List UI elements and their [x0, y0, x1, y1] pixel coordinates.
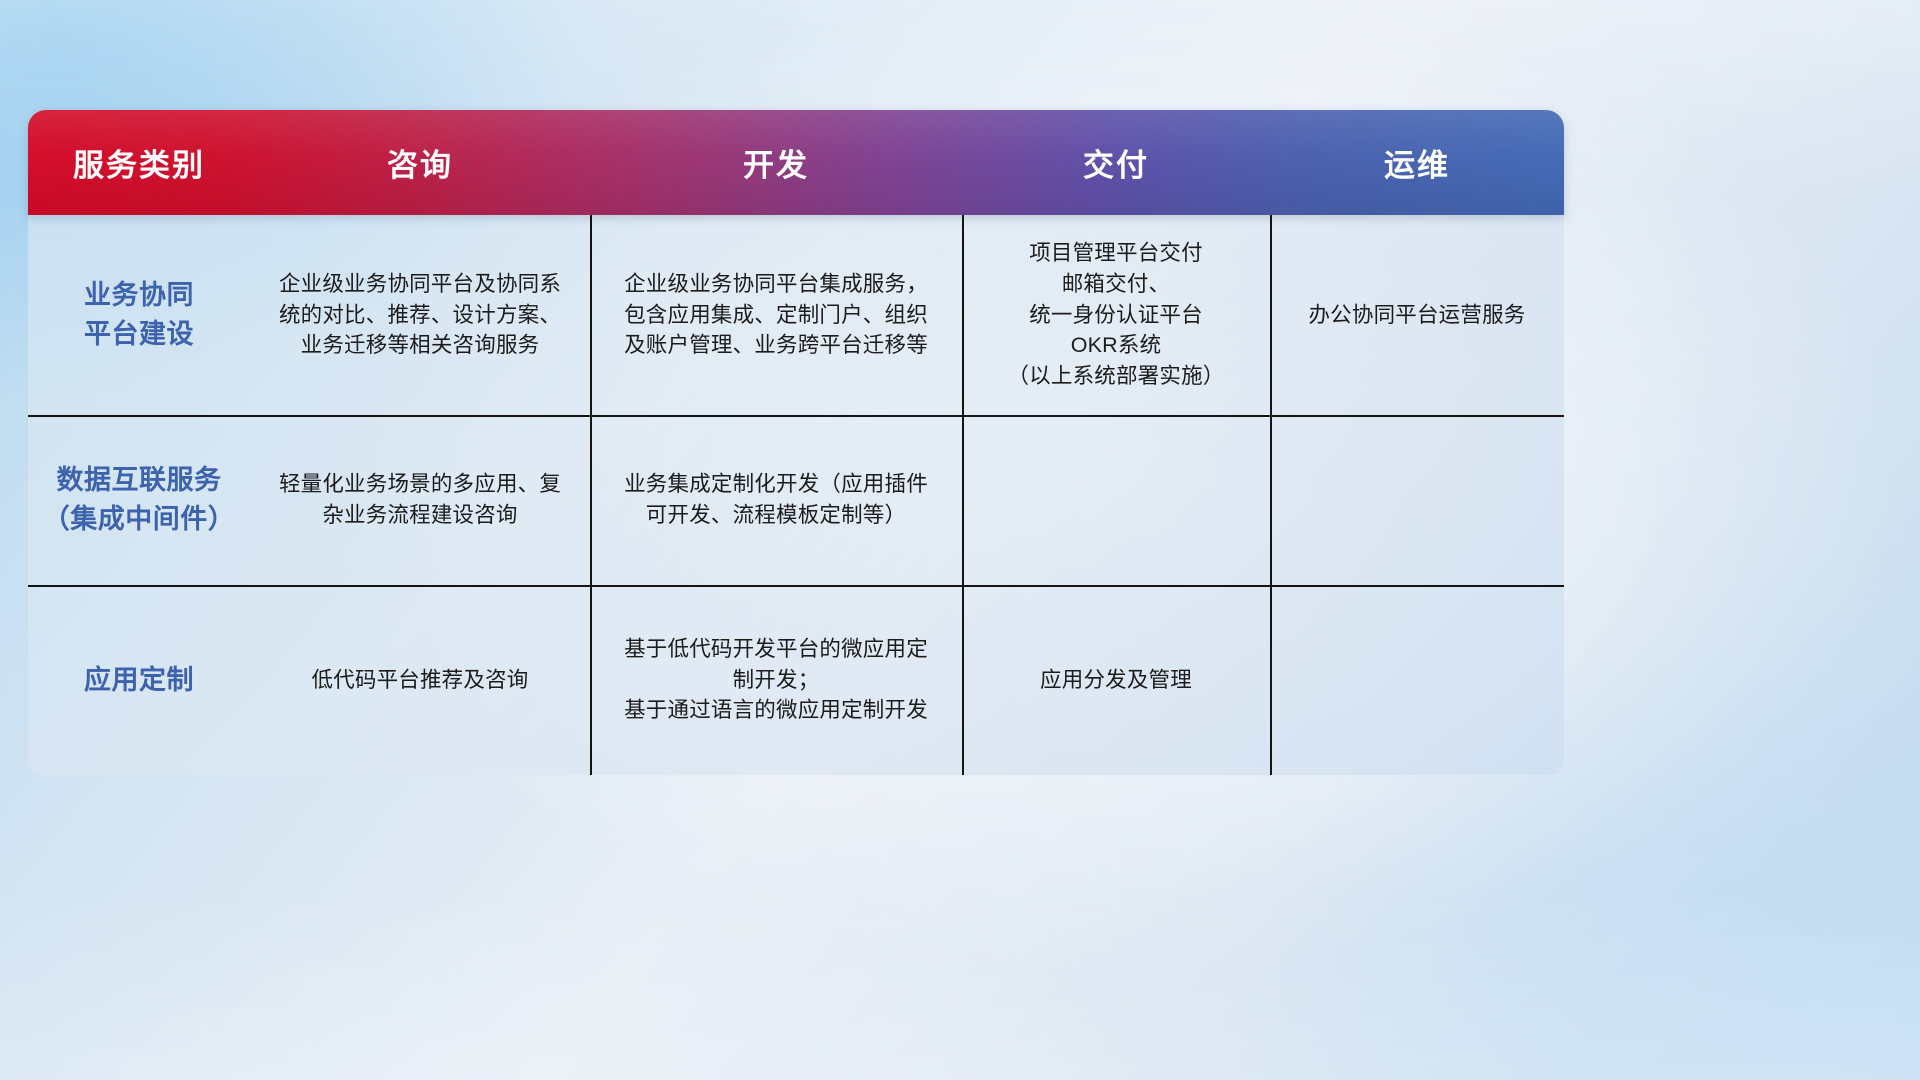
cell-operations: 办公协同平台运营服务 — [1270, 215, 1564, 415]
table-row: 业务协同 平台建设 企业级业务协同平台及协同系 统的对比、推荐、设计方案、 业务… — [28, 215, 1564, 415]
cell-development: 业务集成定制化开发（应用插件 可开发、流程模板定制等） — [590, 415, 962, 585]
header-cell-delivery: 交付 — [962, 140, 1270, 185]
row-label-text: 业务协同 平台建设 — [84, 276, 194, 354]
cell-development: 企业级业务协同平台集成服务， 包含应用集成、定制门户、组织 及账户管理、业务跨平… — [590, 215, 962, 415]
cell-delivery: 应用分发及管理 — [962, 585, 1270, 775]
cell-text: 企业级业务协同平台集成服务， 包含应用集成、定制门户、组织 及账户管理、业务跨平… — [624, 269, 928, 362]
header-cell-development: 开发 — [590, 140, 962, 185]
table-header-row: 服务类别 咨询 开发 交付 运维 — [28, 110, 1564, 215]
row-label-text: 应用定制 — [84, 661, 194, 700]
cell-text: 业务集成定制化开发（应用插件 可开发、流程模板定制等） — [624, 469, 928, 531]
cell-text: 项目管理平台交付 邮箱交付、 统一身份认证平台 OKR系统 （以上系统部署实施） — [1007, 238, 1224, 393]
column-divider — [590, 215, 592, 775]
cell-delivery — [962, 415, 1270, 585]
row-label-cell: 应用定制 — [28, 585, 250, 775]
cell-consulting: 低代码平台推荐及咨询 — [250, 585, 590, 775]
header-cell-category: 服务类别 — [28, 140, 250, 185]
cell-consulting: 企业级业务协同平台及协同系 统的对比、推荐、设计方案、 业务迁移等相关咨询服务 — [250, 215, 590, 415]
cell-development: 基于低代码开发平台的微应用定 制开发； 基于通过语言的微应用定制开发 — [590, 585, 962, 775]
cell-text: 应用分发及管理 — [1040, 665, 1192, 696]
cell-delivery: 项目管理平台交付 邮箱交付、 统一身份认证平台 OKR系统 （以上系统部署实施） — [962, 215, 1270, 415]
cell-text: 企业级业务协同平台及协同系 统的对比、推荐、设计方案、 业务迁移等相关咨询服务 — [279, 269, 561, 362]
cell-text: 办公协同平台运营服务 — [1308, 300, 1525, 331]
header-cell-consulting: 咨询 — [250, 140, 590, 185]
cell-text: 轻量化业务场景的多应用、复 杂业务流程建设咨询 — [279, 469, 561, 531]
cell-operations — [1270, 415, 1564, 585]
service-matrix-table: 服务类别 咨询 开发 交付 运维 业务协同 平台建设 企业级业务协同平台及协同系… — [28, 110, 1564, 775]
row-divider — [28, 415, 1564, 417]
header-cell-operations: 运维 — [1270, 140, 1564, 185]
cell-text: 低代码平台推荐及咨询 — [311, 665, 528, 696]
table-row: 数据互联服务 （集成中间件） 轻量化业务场景的多应用、复 杂业务流程建设咨询 业… — [28, 415, 1564, 585]
column-divider — [962, 215, 964, 775]
row-label-cell: 数据互联服务 （集成中间件） — [28, 415, 250, 585]
column-divider — [1270, 215, 1272, 775]
table-row: 应用定制 低代码平台推荐及咨询 基于低代码开发平台的微应用定 制开发； 基于通过… — [28, 585, 1564, 775]
table-grid: 业务协同 平台建设 企业级业务协同平台及协同系 统的对比、推荐、设计方案、 业务… — [28, 215, 1564, 775]
row-label-text: 数据互联服务 （集成中间件） — [43, 461, 236, 539]
row-divider — [28, 585, 1564, 587]
cell-consulting: 轻量化业务场景的多应用、复 杂业务流程建设咨询 — [250, 415, 590, 585]
cell-operations — [1270, 585, 1564, 775]
row-label-cell: 业务协同 平台建设 — [28, 215, 250, 415]
cell-text: 基于低代码开发平台的微应用定 制开发； 基于通过语言的微应用定制开发 — [624, 634, 928, 727]
